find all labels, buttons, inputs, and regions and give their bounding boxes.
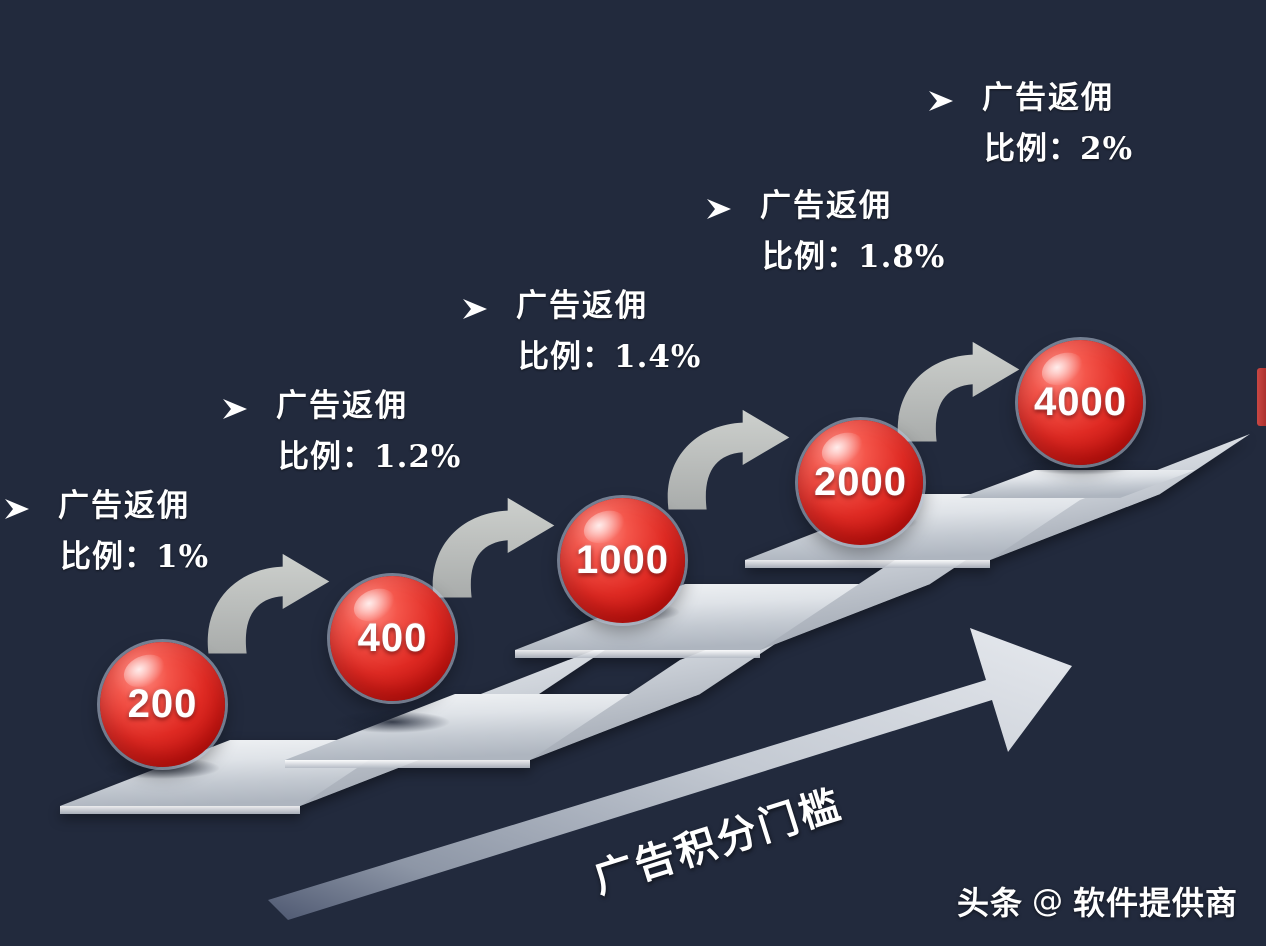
callout-rate: 比例：1% (4, 531, 209, 576)
threshold-ball-value: 4000 (1034, 380, 1127, 425)
callout-title-row: 广告返佣 (4, 480, 209, 525)
slide-canvas: 200 400 1000 2000 4000 广告返佣 比例：1% (0, 0, 1266, 946)
callout-rebate-5[interactable]: 广告返佣 比例：2% (928, 72, 1133, 168)
threshold-ball-value: 400 (358, 616, 428, 661)
callout-title: 广告返佣 (58, 480, 190, 525)
callout-title-row: 广告返佣 (462, 280, 701, 325)
watermark-brand: 头条 (957, 878, 1023, 924)
callout-title: 广告返佣 (982, 72, 1114, 117)
threshold-ball-value: 200 (128, 682, 198, 727)
threshold-ball-400[interactable]: 400 (330, 576, 455, 701)
callout-rebate-4[interactable]: 广告返佣 比例：1.8% (706, 180, 945, 276)
curved-arrow-4 (898, 342, 1020, 442)
arrowhead-bullet-icon (4, 492, 30, 514)
curved-arrow-3 (668, 410, 790, 510)
callout-title: 广告返佣 (276, 380, 408, 425)
callout-rate: 比例：2% (928, 123, 1133, 168)
stair-tread-2-edge (285, 760, 530, 768)
curved-arrow-2 (433, 498, 555, 598)
edge-accent-chip (1257, 368, 1266, 426)
arrowhead-bullet-icon (706, 192, 732, 214)
stair-tread-3-edge (515, 650, 760, 658)
threshold-ball-value: 2000 (814, 460, 907, 505)
callout-rate: 比例：1.8% (706, 231, 945, 276)
callout-rebate-1[interactable]: 广告返佣 比例：1% (4, 480, 209, 576)
arrowhead-bullet-icon (928, 84, 954, 106)
callout-title-row: 广告返佣 (706, 180, 945, 225)
callout-title: 广告返佣 (760, 180, 892, 225)
arrowhead-bullet-icon (222, 392, 248, 414)
stair-tread-1-edge (60, 806, 300, 814)
watermark: 头条 @ 软件提供商 (957, 878, 1238, 924)
watermark-account: 软件提供商 (1073, 878, 1238, 924)
callout-title-row: 广告返佣 (928, 72, 1133, 117)
callout-title-row: 广告返佣 (222, 380, 461, 425)
threshold-ball-2000[interactable]: 2000 (798, 420, 923, 545)
threshold-ball-200[interactable]: 200 (100, 642, 225, 767)
callout-rebate-2[interactable]: 广告返佣 比例：1.2% (222, 380, 461, 476)
callout-rate: 比例：1.4% (462, 331, 701, 376)
watermark-at-icon: @ (1032, 883, 1064, 919)
callout-rate: 比例：1.2% (222, 431, 461, 476)
curved-arrow-1 (208, 554, 330, 654)
arrowhead-bullet-icon (462, 292, 488, 314)
callout-rebate-3[interactable]: 广告返佣 比例：1.4% (462, 280, 701, 376)
stair-tread-4-edge (745, 560, 990, 568)
callout-title: 广告返佣 (516, 280, 648, 325)
threshold-ball-4000[interactable]: 4000 (1018, 340, 1143, 465)
threshold-ball-1000[interactable]: 1000 (560, 498, 685, 623)
threshold-ball-value: 1000 (576, 538, 669, 583)
